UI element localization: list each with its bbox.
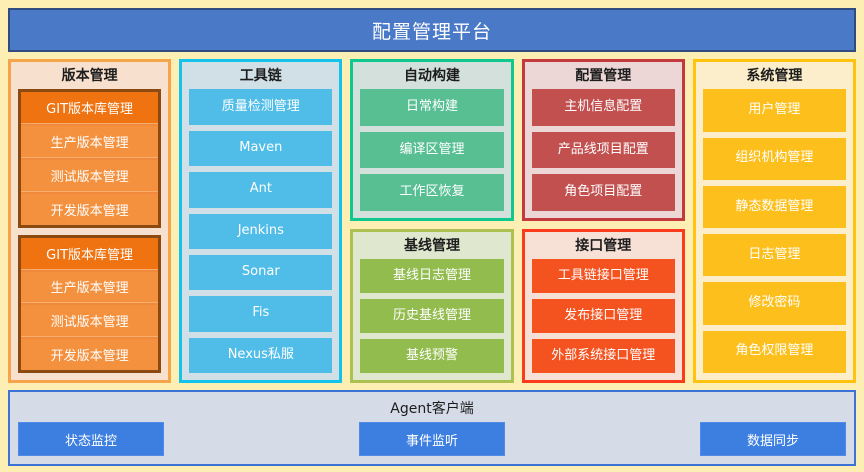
architecture-diagram: 配置管理平台 版本管理 GIT版本库管理 生产版本管理 测试版本管理 开发版本管…	[0, 0, 864, 472]
agent-button-status-monitor[interactable]: 状态监控	[18, 422, 164, 456]
version-item-development[interactable]: 开发版本管理	[21, 339, 158, 370]
column-config-and-interface: 配置管理 主机信息配置 产品线项目配置 角色项目配置 接口管理 工具链接口管理 …	[522, 59, 685, 383]
agent-button-data-sync[interactable]: 数据同步	[700, 422, 846, 456]
version-item-test[interactable]: 测试版本管理	[21, 305, 158, 337]
build-item-daily-build[interactable]: 日常构建	[360, 89, 503, 126]
version-item-production[interactable]: 生产版本管理	[21, 272, 158, 304]
toolchain-item-list: 质量检测管理 Maven Ant Jenkins Sonar Fis Nexus…	[189, 89, 332, 373]
interface-item-release-api[interactable]: 发布接口管理	[532, 299, 675, 333]
page-title: 配置管理平台	[372, 17, 492, 44]
version-item-git-repo[interactable]: GIT版本库管理	[21, 238, 158, 270]
version-group: GIT版本库管理 生产版本管理 测试版本管理 开发版本管理	[18, 235, 161, 373]
version-item-git-repo[interactable]: GIT版本库管理	[21, 92, 158, 124]
version-item-production[interactable]: 生产版本管理	[21, 126, 158, 158]
panel-title-auto-build: 自动构建	[360, 66, 503, 89]
panel-title-baseline-management: 基线管理	[360, 236, 503, 259]
config-item-list: 主机信息配置 产品线项目配置 角色项目配置	[532, 89, 675, 211]
column-system-management: 系统管理 用户管理 组织机构管理 静态数据管理 日志管理 修改密码 角色权限管理	[693, 59, 856, 383]
system-item-user-management[interactable]: 用户管理	[703, 89, 846, 131]
panel-title-interface-management: 接口管理	[532, 236, 675, 259]
interface-item-toolchain-api[interactable]: 工具链接口管理	[532, 259, 675, 293]
system-item-role-permission[interactable]: 角色权限管理	[703, 331, 846, 373]
config-item-product-line-project[interactable]: 产品线项目配置	[532, 132, 675, 169]
module-columns: 版本管理 GIT版本库管理 生产版本管理 测试版本管理 开发版本管理 GIT版本…	[8, 59, 856, 383]
platform-header: 配置管理平台	[8, 8, 856, 52]
toolchain-item-quality-inspection[interactable]: 质量检测管理	[189, 89, 332, 124]
toolchain-item-jenkins[interactable]: Jenkins	[189, 214, 332, 249]
interface-item-external-system-api[interactable]: 外部系统接口管理	[532, 339, 675, 373]
config-item-host-info[interactable]: 主机信息配置	[532, 89, 675, 126]
panel-baseline-management: 基线管理 基线日志管理 历史基线管理 基线预警	[350, 229, 513, 383]
auto-build-item-list: 日常构建 编译区管理 工作区恢复	[360, 89, 503, 211]
version-item-test[interactable]: 测试版本管理	[21, 160, 158, 192]
system-item-organization[interactable]: 组织机构管理	[703, 138, 846, 180]
agent-button-event-listener[interactable]: 事件监听	[359, 422, 505, 456]
baseline-item-alert[interactable]: 基线预警	[360, 339, 503, 373]
panel-toolchain: 工具链 质量检测管理 Maven Ant Jenkins Sonar Fis N…	[179, 59, 342, 383]
build-item-workspace-restore[interactable]: 工作区恢复	[360, 174, 503, 211]
build-item-compile-area[interactable]: 编译区管理	[360, 132, 503, 169]
panel-config-management: 配置管理 主机信息配置 产品线项目配置 角色项目配置	[522, 59, 685, 221]
system-item-change-password[interactable]: 修改密码	[703, 282, 846, 324]
interface-item-list: 工具链接口管理 发布接口管理 外部系统接口管理	[532, 259, 675, 373]
system-item-list: 用户管理 组织机构管理 静态数据管理 日志管理 修改密码 角色权限管理	[703, 89, 846, 373]
agent-client-buttons: 状态监控 事件监听 数据同步	[18, 422, 846, 456]
config-item-role-project[interactable]: 角色项目配置	[532, 174, 675, 211]
panel-interface-management: 接口管理 工具链接口管理 发布接口管理 外部系统接口管理	[522, 229, 685, 383]
toolchain-item-sonar[interactable]: Sonar	[189, 255, 332, 290]
agent-client-panel: Agent客户端 状态监控 事件监听 数据同步	[8, 390, 856, 466]
system-item-static-data[interactable]: 静态数据管理	[703, 186, 846, 228]
baseline-item-list: 基线日志管理 历史基线管理 基线预警	[360, 259, 503, 373]
panel-system-management: 系统管理 用户管理 组织机构管理 静态数据管理 日志管理 修改密码 角色权限管理	[693, 59, 856, 383]
version-group-list: GIT版本库管理 生产版本管理 测试版本管理 开发版本管理 GIT版本库管理 生…	[18, 89, 161, 373]
toolchain-item-nexus[interactable]: Nexus私服	[189, 338, 332, 373]
version-item-development[interactable]: 开发版本管理	[21, 194, 158, 225]
panel-title-config-management: 配置管理	[532, 66, 675, 89]
toolchain-item-fis[interactable]: Fis	[189, 296, 332, 331]
column-toolchain: 工具链 质量检测管理 Maven Ant Jenkins Sonar Fis N…	[179, 59, 342, 383]
version-group: GIT版本库管理 生产版本管理 测试版本管理 开发版本管理	[18, 89, 161, 227]
panel-title-toolchain: 工具链	[189, 66, 332, 89]
panel-auto-build: 自动构建 日常构建 编译区管理 工作区恢复	[350, 59, 513, 221]
system-item-log-management[interactable]: 日志管理	[703, 234, 846, 276]
baseline-item-log[interactable]: 基线日志管理	[360, 259, 503, 293]
baseline-item-history[interactable]: 历史基线管理	[360, 299, 503, 333]
column-version-management: 版本管理 GIT版本库管理 生产版本管理 测试版本管理 开发版本管理 GIT版本…	[8, 59, 171, 383]
column-build-and-baseline: 自动构建 日常构建 编译区管理 工作区恢复 基线管理 基线日志管理 历史基线管理…	[350, 59, 513, 383]
panel-title-system-management: 系统管理	[703, 66, 846, 89]
agent-client-title: Agent客户端	[18, 395, 846, 422]
toolchain-item-maven[interactable]: Maven	[189, 131, 332, 166]
panel-version-management: 版本管理 GIT版本库管理 生产版本管理 测试版本管理 开发版本管理 GIT版本…	[8, 59, 171, 383]
panel-title-version-management: 版本管理	[18, 66, 161, 89]
toolchain-item-ant[interactable]: Ant	[189, 172, 332, 207]
